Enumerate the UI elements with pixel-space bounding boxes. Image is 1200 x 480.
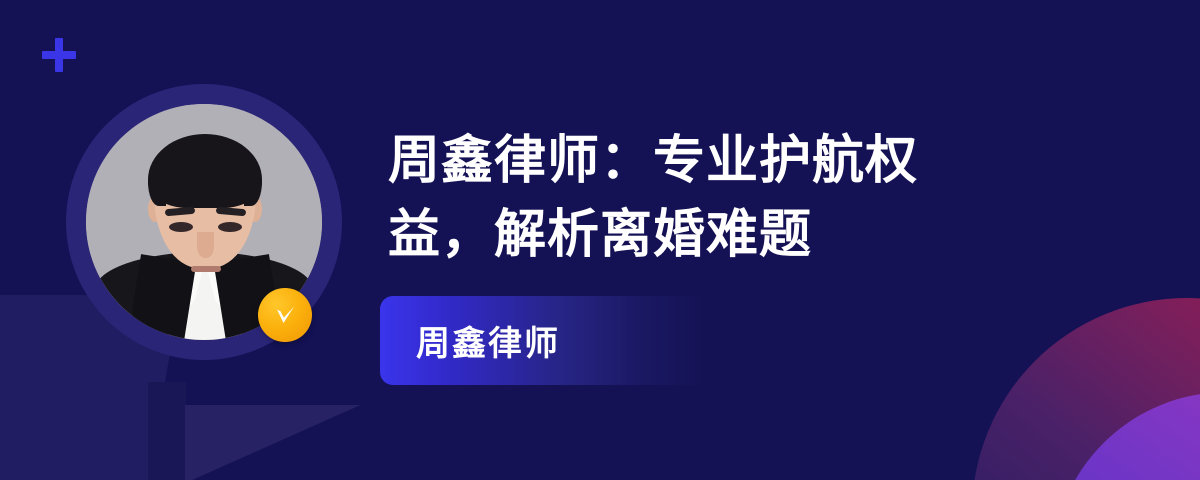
page-title: 周鑫律师：专业护航权 益，解析离婚难题 xyxy=(388,124,1028,272)
lawyer-name-chip-label: 周鑫律师 xyxy=(380,316,560,365)
plus-icon-bar-vertical xyxy=(55,38,63,72)
portrait-mouth xyxy=(191,266,221,272)
promo-banner: 周鑫律师：专业护航权 益，解析离婚难题 周鑫律师 xyxy=(0,0,1200,480)
headline-block: 周鑫律师：专业护航权 益，解析离婚难题 xyxy=(388,124,1028,272)
portrait-nose xyxy=(197,232,214,258)
portrait-hair-side-left xyxy=(148,166,166,206)
decor-wedge xyxy=(185,405,360,480)
verified-badge-icon xyxy=(258,288,312,342)
portrait-eye-right xyxy=(218,222,242,232)
lawyer-name-chip[interactable]: 周鑫律师 xyxy=(380,296,710,385)
portrait-lapel-left xyxy=(128,254,197,340)
decor-slab-left-lower xyxy=(0,365,160,480)
plus-icon xyxy=(42,38,76,72)
decor-seam xyxy=(148,382,186,480)
portrait-eye-left xyxy=(169,222,193,232)
